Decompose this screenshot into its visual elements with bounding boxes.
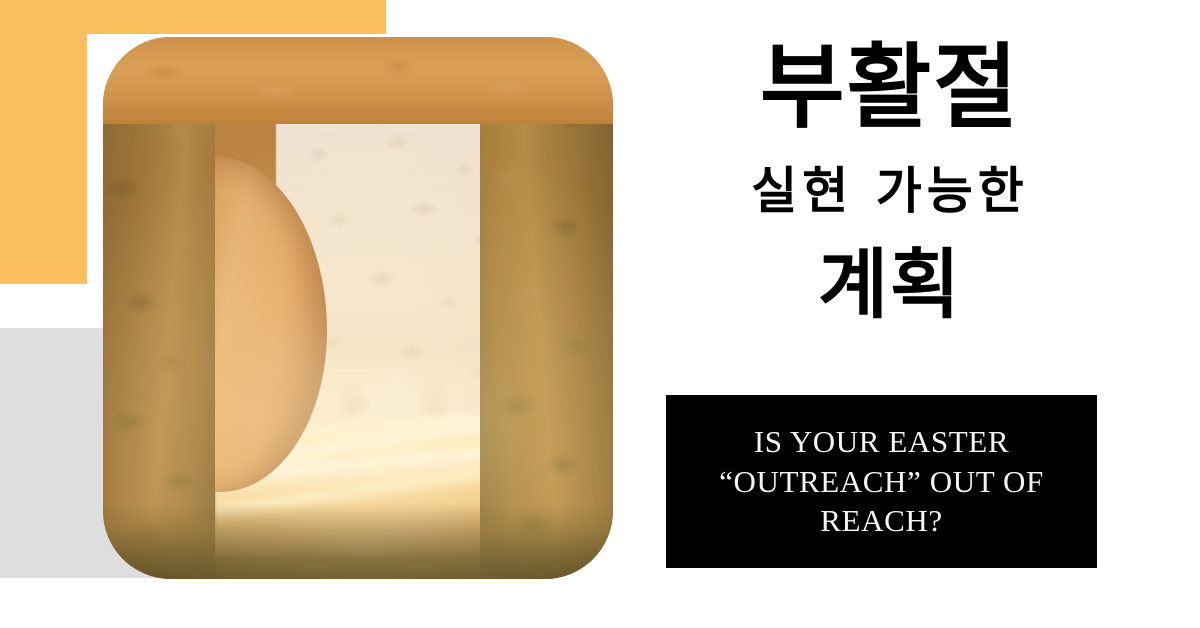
tomb-ceiling-lintel xyxy=(103,37,613,124)
empty-tomb-photo xyxy=(103,37,613,579)
orange-left-block xyxy=(0,0,87,284)
tagline-line-2: “OUTREACH” OUT OF xyxy=(719,464,1044,499)
tomb-foreground-ledge xyxy=(103,503,613,579)
headline-accent: 계획 xyxy=(640,245,1140,325)
tagline-line-3: REACH? xyxy=(820,503,942,538)
easter-promo-poster: 부활절 실현 가능한 계획 IS YOUR EASTER “OUTREACH” … xyxy=(0,0,1200,628)
tagline-text: IS YOUR EASTER “OUTREACH” OUT OF REACH? xyxy=(719,422,1044,541)
headline-main: 부활절 xyxy=(640,38,1140,137)
tagline-banner: IS YOUR EASTER “OUTREACH” OUT OF REACH? xyxy=(666,395,1097,568)
headline-sub: 실현 가능한 xyxy=(640,163,1140,221)
headline-group: 부활절 실현 가능한 계획 xyxy=(640,38,1140,325)
tagline-line-1: IS YOUR EASTER xyxy=(754,424,1009,459)
